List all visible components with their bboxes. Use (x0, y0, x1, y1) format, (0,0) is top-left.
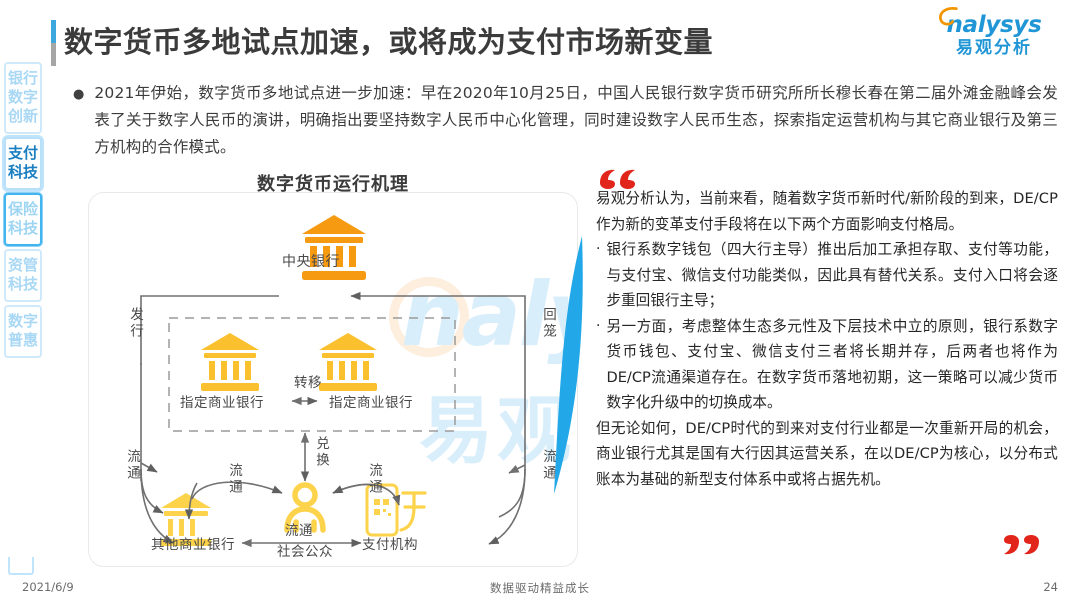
quote-close-icon (1002, 534, 1042, 556)
slide-root: 数字货币多地试点加速，或将成为支付市场新变量 nalysys 易观分析 银行数字… (0, 0, 1080, 608)
lead-paragraph-text: 2021年伊始，数字货币多地试点进一步加速：早在2020年10月25日，中国人民… (94, 80, 1058, 161)
diagram-node-designated-bank-right: 指定商业银行 (329, 391, 413, 411)
sidebar-item-bank-digital-innovation[interactable]: 银行数字创新 (4, 62, 42, 134)
logo-wordmark: nalysys (934, 12, 1054, 38)
diagram-edge-transfer: 转移 (294, 371, 322, 391)
lead-paragraph: ● 2021年伊始，数字货币多地试点进一步加速：早在2020年10月25日，中国… (73, 80, 1058, 161)
diagram-edge-withdraw: 回笼 (538, 307, 558, 340)
diagram-node-central-bank: 中央银行 (282, 251, 340, 271)
commentary-point-text: 银行系数字钱包（四大行主导）推出后加工承担存取、支付等功能，与支付宝、微信支付功… (606, 237, 1058, 314)
commentary-point-text: 另一方面，考虑整体生态多元性及下层技术中立的原则，银行系数字货币钱包、支付宝、微… (606, 314, 1058, 416)
diagram-node-other-bank: 其他商业银行 (151, 533, 235, 553)
diagram-card: naly 易观 (88, 192, 578, 567)
commentary-intro: 易观分析认为，当前来看，随着数字货币新时代/新阶段的到来，DE/CP作为新的变革… (596, 186, 1058, 237)
commentary-point-1: · 银行系数字钱包（四大行主导）推出后加工承担存取、支付等功能，与支付宝、微信支… (596, 237, 1058, 314)
diagram-node-designated-bank-left: 指定商业银行 (180, 391, 264, 411)
title-accent-bar (51, 20, 56, 66)
sidebar-item-insurance-tech[interactable]: 保险科技 (4, 193, 42, 246)
sidebar-item-asset-management-tech[interactable]: 资管科技 (4, 249, 42, 302)
diagram-edge-circulate-public-left: 流通 (224, 463, 244, 496)
sidebar-item-label: 保险科技 (6, 200, 40, 238)
diagram-graphics (89, 193, 578, 567)
footer: 2021/6/9 数据驱动精益成长 24 (0, 580, 1080, 596)
logo-cn-text: 易观分析 (934, 38, 1054, 58)
commentary-column: 易观分析认为，当前来看，随着数字货币新时代/新阶段的到来，DE/CP作为新的变革… (596, 186, 1058, 492)
diagram-edge-circulate-public-right: 流通 (364, 463, 384, 496)
diagram-node-public: 社会公众 (277, 540, 333, 560)
analysys-logo: nalysys 易观分析 (934, 12, 1054, 62)
footer-page-number: 24 (1043, 580, 1058, 594)
commentary-bullet-icon: · (596, 237, 600, 314)
commentary-outro: 但无论如何，DE/CP时代的到来对支付行业都是一次重新开局的机会，商业银行尤其是… (596, 416, 1058, 493)
sidebar-item-label: 数字普惠 (6, 312, 40, 350)
diagram-node-payment-org: 支付机构 (362, 533, 418, 553)
sidebar-item-label: 支付科技 (6, 144, 40, 182)
diagram-edge-issue: 发行 (125, 307, 145, 340)
commentary-point-2: · 另一方面，考虑整体生态多元性及下层技术中立的原则，银行系数字货币钱包、支付宝… (596, 314, 1058, 416)
footer-tagline: 数据驱动精益成长 (0, 580, 1080, 596)
designated-bank-right-icon (319, 333, 377, 391)
logo-word-text: nalysys (946, 12, 1041, 38)
sidebar-item-label: 银行数字创新 (6, 69, 40, 126)
diagram-edge-circulate-left: 流通 (122, 449, 142, 482)
diagram-edge-circulate-right: 流通 (538, 449, 558, 482)
sidebar-item-digital-inclusive-finance[interactable]: 数字普惠 (4, 305, 42, 358)
sidebar-item-payment-tech[interactable]: 支付科技 (4, 137, 42, 190)
logo-swoosh-icon (938, 5, 960, 27)
diagram-edge-exchange: 兑换 (311, 436, 331, 469)
sidebar-bottom-bracket (8, 557, 34, 575)
page-title: 数字货币多地试点加速，或将成为支付市场新变量 (64, 19, 713, 61)
lead-bullet-icon: ● (73, 80, 84, 161)
diagram-edge-circulate-bottom: 流通 (285, 519, 313, 539)
designated-bank-left-icon (201, 333, 259, 391)
sidebar-item-label: 资管科技 (6, 256, 40, 294)
commentary-bullet-icon: · (596, 314, 600, 416)
sidebar-tabs[interactable]: 银行数字创新 支付科技 保险科技 资管科技 数字普惠 (2, 62, 44, 358)
